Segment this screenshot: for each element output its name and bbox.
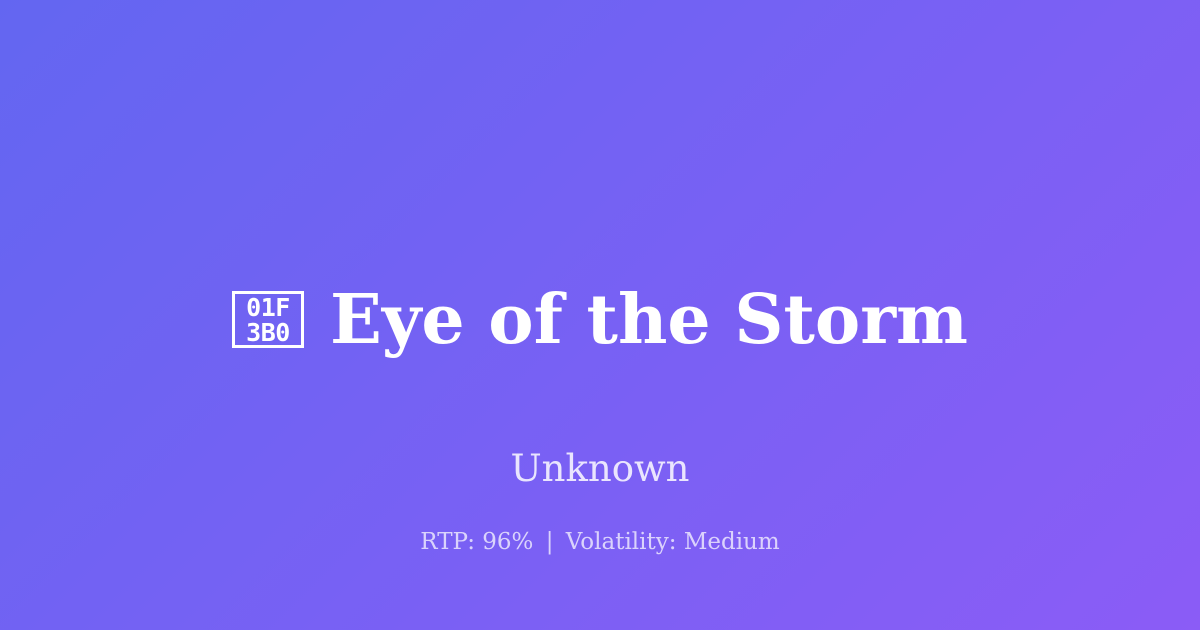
hero-block: 01F 3B0 Eye of the Storm Unknown [0,236,1200,491]
game-og-card: 01F 3B0 Eye of the Storm Unknown RTP: 96… [0,0,1200,630]
tofu-codepoint-top: 01F [246,295,290,320]
title-row: 01F 3B0 Eye of the Storm [232,236,968,403]
volatility-label: Volatility: [566,529,677,555]
game-provider-subtitle: Unknown [510,447,689,491]
slot-machine-icon: 01F 3B0 [232,291,304,348]
game-title: Eye of the Storm [330,282,968,358]
meta-separator: | [541,529,559,555]
rtp-label: RTP: [420,529,475,555]
game-meta-line: RTP: 96% | Volatility: Medium [0,527,1200,557]
tofu-codepoint-bottom: 3B0 [246,320,290,345]
rtp-value: 96% [482,529,533,555]
volatility-value: Medium [684,529,780,555]
